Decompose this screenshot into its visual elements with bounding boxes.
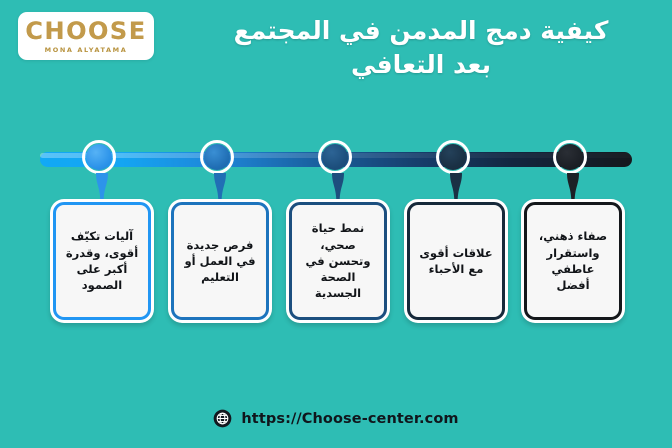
timeline-node-ring xyxy=(318,140,352,174)
milestone-card-frame: علاقات أقوى مع الأحباء xyxy=(407,202,505,320)
milestone-card-text: علاقات أقوى مع الأحباء xyxy=(417,245,495,278)
page-title: كيفية دمج المدمن في المجتمع بعد التعافي xyxy=(186,14,656,82)
milestone-card-1[interactable]: آليات تكيّف أقوى، وقدرة أكبر على الصمود xyxy=(50,199,154,323)
timeline-node-2[interactable] xyxy=(200,140,240,180)
timeline-node-3[interactable] xyxy=(318,140,358,180)
website-url[interactable]: https://Choose-center.com xyxy=(241,411,458,427)
milestone-card-text: آليات تكيّف أقوى، وقدرة أكبر على الصمود xyxy=(63,228,141,293)
globe-icon xyxy=(213,409,232,428)
milestone-card-frame: فرص جديدة في العمل أو التعليم xyxy=(171,202,269,320)
infographic-canvas: CHOOSE MONA ALYATAMA كيفية دمج المدمن في… xyxy=(0,0,672,448)
timeline-node-5[interactable] xyxy=(553,140,593,180)
milestone-card-5[interactable]: صفاء ذهني، واستقرار عاطفي أفضل xyxy=(521,199,625,323)
milestone-card-frame: آليات تكيّف أقوى، وقدرة أكبر على الصمود xyxy=(53,202,151,320)
milestone-card-frame: صفاء ذهني، واستقرار عاطفي أفضل xyxy=(524,202,622,320)
milestone-card-text: فرص جديدة في العمل أو التعليم xyxy=(181,237,259,286)
page-title-line-1: كيفية دمج المدمن في المجتمع xyxy=(186,14,656,48)
timeline-node-ring xyxy=(200,140,234,174)
logo-subtitle: MONA ALYATAMA xyxy=(45,46,128,54)
page-title-line-2: بعد التعافي xyxy=(186,48,656,82)
timeline-node-ring xyxy=(82,140,116,174)
milestone-card-text: صفاء ذهني، واستقرار عاطفي أفضل xyxy=(534,228,612,293)
milestone-card-2[interactable]: فرص جديدة في العمل أو التعليم xyxy=(168,199,272,323)
timeline-node-1[interactable] xyxy=(82,140,122,180)
timeline-node-ring xyxy=(436,140,470,174)
milestone-card-3[interactable]: نمط حياة صحي، وتحسن في الصحة الجسدية xyxy=(286,199,390,323)
milestone-card-text: نمط حياة صحي، وتحسن في الصحة الجسدية xyxy=(299,220,377,302)
milestone-card-frame: نمط حياة صحي، وتحسن في الصحة الجسدية xyxy=(289,202,387,320)
timeline-node-4[interactable] xyxy=(436,140,476,180)
milestone-card-4[interactable]: علاقات أقوى مع الأحباء xyxy=(404,199,508,323)
brand-logo: CHOOSE MONA ALYATAMA xyxy=(18,12,154,60)
logo-wordmark: CHOOSE xyxy=(25,19,146,43)
footer: https://Choose-center.com xyxy=(0,409,672,428)
timeline-node-ring xyxy=(553,140,587,174)
